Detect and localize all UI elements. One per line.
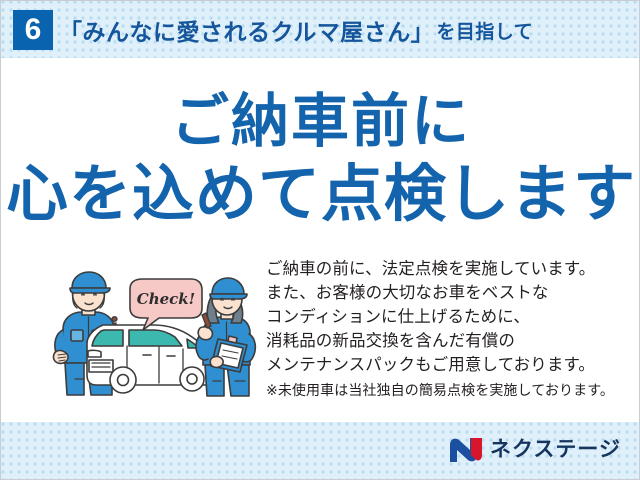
body-copy: ご納車の前に、法定点検を実施しています。 また、お客様の大切なお車をベストな コ…: [266, 257, 626, 401]
header-title: 「みんなに愛されるクルマ屋さん」 を目指して: [59, 10, 533, 50]
body-line-3: コンディションに仕上げるために、: [266, 305, 626, 329]
mechanics-illustration: Check!: [51, 267, 266, 401]
headline-line-2: 心を込めて点検します: [1, 159, 640, 231]
header-title-suffix: を目指して: [434, 17, 533, 44]
headline: ご納車前に 心を込めて点検します: [1, 85, 640, 231]
body-line-2: また、お客様の大切なお車をベストな: [266, 281, 626, 305]
header-title-main: 「みんなに愛されるクルマ屋さん」: [59, 13, 434, 47]
van-illustration: [87, 325, 214, 393]
headline-line-1: ご納車前に: [1, 85, 640, 159]
body-line-4: 消耗品の新品交換を含んだ有償の: [266, 329, 626, 353]
body-line-5: メンテナンスパックもご用意しております。: [266, 353, 626, 377]
brand-logo: ネクステージ: [449, 435, 621, 465]
promo-panel: 6 「みんなに愛されるクルマ屋さん」 を目指して ご納車前に 心を込めて点検しま…: [0, 0, 640, 480]
check-bubble-label: Check!: [137, 290, 196, 308]
nextage-n-mark-icon: [449, 437, 483, 463]
section-number-badge: 6: [13, 10, 53, 50]
body-line-1: ご納車の前に、法定点検を実施しています。: [266, 257, 626, 281]
body-note: ※未使用車は当社独自の簡易点検を実施しております。: [266, 377, 626, 401]
brand-name: ネクステージ: [490, 435, 621, 465]
